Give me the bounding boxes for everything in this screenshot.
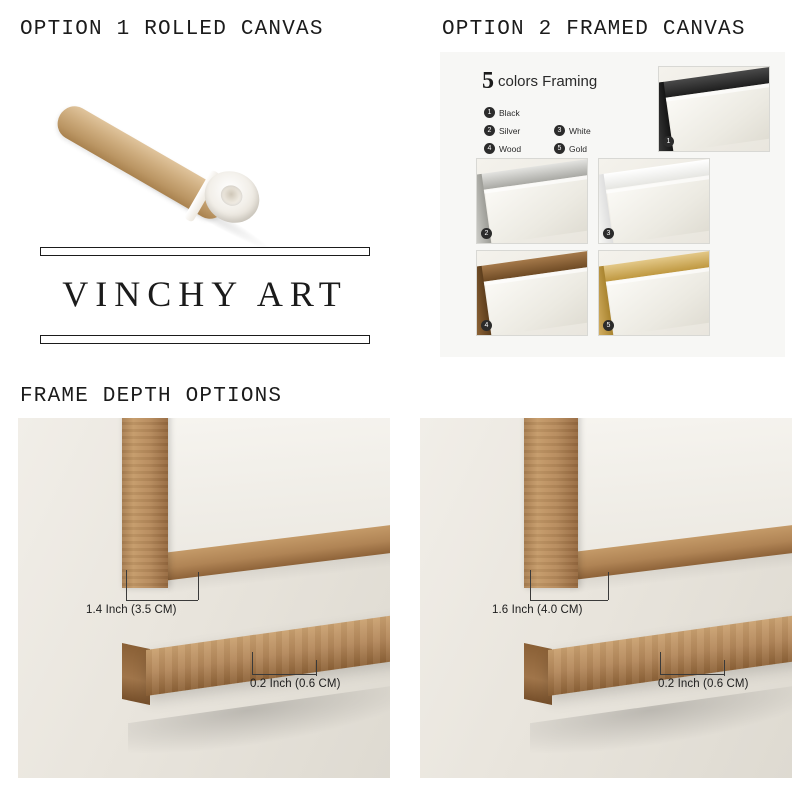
frame-rail-vertical	[524, 418, 578, 588]
dim-tick-depth-right-a	[530, 570, 531, 600]
logo-tick-right-top	[369, 247, 370, 255]
framing-count: 5	[482, 68, 494, 94]
legend-item-white: 3 White	[554, 125, 620, 136]
dim-tick-width-right-a	[660, 652, 661, 674]
legend-item-wood: 4 Wood	[484, 143, 550, 154]
depth-label-right: 1.6 Inch (4.0 CM)	[492, 604, 583, 616]
dim-line-depth-right	[530, 600, 608, 601]
framing-heading: 5colors Framing	[482, 68, 597, 95]
legend-item-black: 1 Black	[484, 107, 550, 118]
frame-corner	[658, 67, 770, 152]
frame-corner	[476, 159, 588, 244]
logo-rule-top-1	[40, 247, 370, 248]
depth-label-left: 1.4 Inch (3.5 CM)	[86, 604, 177, 616]
wood-frame-sample[interactable]: 4	[476, 250, 588, 336]
frame-corner	[598, 251, 710, 336]
dim-tick-width-right-b	[724, 660, 725, 676]
width-label-right: 0.2 Inch (0.6 CM)	[658, 678, 749, 690]
logo-tick-left-top	[40, 247, 41, 255]
dim-line-width-right	[660, 674, 724, 675]
legend-bullet-5: 5	[554, 143, 565, 154]
white-frame-sample[interactable]: 3	[598, 158, 710, 244]
legend-label-gold: Gold	[569, 144, 587, 154]
rolled-canvas-illustration	[18, 52, 418, 242]
sample-badge-1: 1	[663, 136, 674, 147]
dim-tick-depth-left-a	[126, 570, 127, 600]
canvas-tube	[54, 72, 294, 222]
legend-bullet-3: 3	[554, 125, 565, 136]
legend-row: 2 Silver 3 White	[484, 125, 634, 136]
logo-rule-bottom-1	[40, 335, 370, 336]
logo-tick-right-bottom	[369, 335, 370, 343]
framing-color-legend: 1 Black 2 Silver 3 White 4 Wood 5 Gold	[484, 107, 634, 161]
legend-item-gold: 5 Gold	[554, 143, 620, 154]
legend-label-silver: Silver	[499, 126, 520, 136]
brand-logo: VINCHY ART	[40, 243, 370, 353]
option1-title: OPTION 1 ROLLED CANVAS	[20, 18, 324, 41]
frame-rail-vertical	[122, 418, 168, 588]
logo-rule-bottom-2	[40, 343, 370, 344]
legend-bullet-4: 4	[484, 143, 495, 154]
option2-title: OPTION 2 FRAMED CANVAS	[442, 18, 746, 41]
frame-corner	[598, 159, 710, 244]
dim-tick-depth-left-b	[198, 572, 199, 600]
sample-badge-4: 4	[481, 320, 492, 331]
legend-bullet-2: 2	[484, 125, 495, 136]
legend-item-silver: 2 Silver	[484, 125, 550, 136]
legend-bullet-1: 1	[484, 107, 495, 118]
dim-line-width-left	[252, 674, 316, 675]
logo-tick-left-bottom	[40, 335, 41, 343]
sample-badge-2: 2	[481, 228, 492, 239]
frame-depth-photo-right	[420, 418, 792, 778]
logo-rule-top-2	[40, 255, 370, 256]
dim-line-depth-left	[126, 600, 198, 601]
legend-label-white: White	[569, 126, 591, 136]
sample-badge-5: 5	[603, 320, 614, 331]
silver-frame-sample[interactable]: 2	[476, 158, 588, 244]
logo-text: VINCHY ART	[40, 273, 370, 315]
frame-corner	[476, 251, 588, 336]
legend-label-wood: Wood	[499, 144, 521, 154]
legend-row: 1 Black	[484, 107, 634, 118]
dim-tick-width-left-a	[252, 652, 253, 674]
framing-options-panel: 5colors Framing 1 Black 2 Silver 3 White…	[440, 52, 785, 357]
width-label-left: 0.2 Inch (0.6 CM)	[250, 678, 341, 690]
dim-tick-width-left-b	[316, 660, 317, 676]
sample-badge-3: 3	[603, 228, 614, 239]
legend-row: 4 Wood 5 Gold	[484, 143, 634, 154]
dim-tick-depth-right-b	[608, 572, 609, 600]
black-frame-sample[interactable]: 1	[658, 66, 770, 152]
legend-label-black: Black	[499, 108, 520, 118]
frame-depth-title: FRAME DEPTH OPTIONS	[20, 385, 282, 408]
framing-heading-text: colors Framing	[498, 73, 597, 90]
gold-frame-sample[interactable]: 5	[598, 250, 710, 336]
tube-body	[52, 100, 234, 224]
frame-depth-photo-left	[18, 418, 390, 778]
